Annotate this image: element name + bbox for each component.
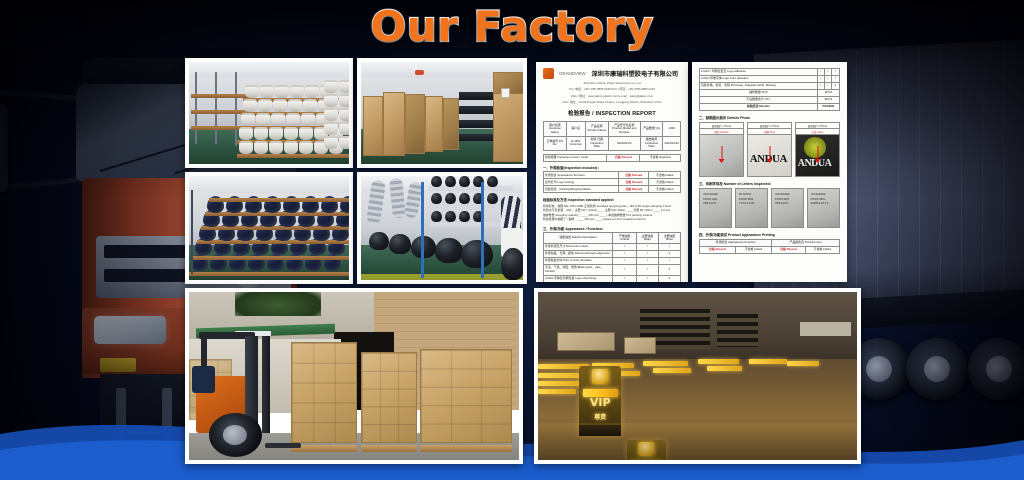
defect-photo-3: 缺陷图片 3 Photo 光泽 Gloss ANDUA [795,122,840,177]
section-2-line-4: 检验批量中抽取了 / 抽样：____ 200 pcs ____ picked o… [543,217,681,222]
section-1-table: 外观检查 Appearance Function 合格 Passed 不合格 F… [543,171,681,193]
table-header-row: 外观检查 Appearance Function 产品颜色及 Product c… [700,239,840,246]
forklift-fork [265,443,301,448]
brand-medal-icon [592,369,609,385]
carton-pallet [420,349,512,443]
letter-card: NO STOCK STOCK 5052 TY NO.2 A NO [735,188,768,228]
table-header-row: 缺陷描述 Defects Description 严重缺陷 Critical 主… [544,233,681,244]
table-row: 抽检数量 PCS 2PCS [700,90,840,97]
forklift-mast-inner [262,336,271,433]
page2-top-table: LOGO / 印刷位置及 Logo adhesion / / / LOGO 印刷… [699,68,840,111]
defect-photo-2: 缺陷图片 2 Photo 印刷 Print ANDUA [747,122,792,177]
section-1-title: 一、外观检查(Inspection included)： [543,165,681,170]
inspection-report-page-2[interactable]: LOGO / 印刷位置及 Logo adhesion / / / LOGO 印刷… [692,62,847,282]
table-row: 客户名称 Customer Name 客户名 产品名称 Product Name… [544,122,681,136]
table-row: 订单编号 PO No. LK-B01 Customer 检验 日期 Inspec… [544,136,681,150]
photo-warehouse-cartons[interactable] [357,58,527,168]
page-title: Our Factory [0,2,1024,51]
photo-shelves-blue-products[interactable] [185,172,353,284]
stacked-crates [557,332,614,350]
photo-content [361,176,523,280]
defect-section-title: 二、缺陷图片展示 Defects Photo [699,115,840,120]
forklift-driver [192,366,215,393]
table-row: LOGO / 印刷位置及 Logo adhesion / / / [700,69,840,76]
section-3-table: 缺陷描述 Defects Description 严重缺陷 Critical 主… [543,232,681,282]
table-row: 检验结果 Inspection result / result 合格 Passe… [544,154,681,161]
company-logo-label: GRANDVIEW [559,71,586,76]
report-title: 检验报告 / INSPECTION REPORT [543,109,681,117]
section-2-title: 检验标准及方法 Inspection standard applied： [543,197,681,202]
table-row: 包装外箱、标签、条码 Print tape, hologram white, M… [700,83,840,90]
table-row: 检验结论 Results PASSED [700,104,840,111]
table-row: 丝印打印 Logo printing 合格 Passed 不合格 Failed [544,179,681,186]
company-name-en: Shenzhen JiaKun Plastic Electronics Co.,… [543,81,681,85]
vip-sign-subtext: 尊贵 [579,412,620,421]
company-logo-icon [543,68,554,79]
table-row: 包装检查、Packing/Shipping Marks 合格 Passed 不合… [544,186,681,193]
defect-image-3: ANDUA [795,135,840,177]
table-row: 外观外观及尺寸 Dimension check / / / [544,244,681,251]
letters-section-title: 三、印刷字体及 Number of Letters Inspected： [699,181,840,186]
table-row: 外观色差、光泽、颜色 Deformed/rough edge/color / /… [544,251,681,258]
photo-content: VIP 尊贵 VIP 尊贵 VIP 尊贵 VIP VIP [538,292,857,460]
table-row: 污渍、气泡、泭痕、划伤 Black spots、glue、Scratch / /… [544,265,681,276]
company-contact-1: Tel / 电话：+86 (755) 8855 0180 FAX / 传真：+8… [543,87,681,91]
inspection-report-page-1[interactable]: GRANDVIEW 深圳市康瑞科塑胶电子有限公司 Shenzhen JiaKun… [536,62,688,282]
photo-content [189,176,349,280]
report-result-row: 检验结果 Inspection result / result 合格 Passe… [543,154,681,162]
photo-content [189,292,519,460]
carton-pallet [291,342,357,443]
letter-card-row: YES PLEASE STOCK CALL 7596 A-D IN NO STO… [699,188,840,228]
photo-production-line[interactable] [357,172,527,284]
table-row: 外观检查 Appearance Function 合格 Passed 不合格 F… [544,172,681,179]
defect-image-2: ANDUA [747,135,792,177]
bottom-table: 外观检查 Appearance Function 产品颜色及 Product c… [699,239,840,254]
carton-pallet [361,352,417,443]
carton-box [624,337,656,354]
table-row: 外观前后方向 Print of color deviation / / / [544,258,681,265]
company-contact-3: Add / 地址：No.66 Pinghu Road, Pinghu, Long… [543,100,681,104]
vip-sign-text: VIP [579,396,620,409]
photo-warehouse-white-products[interactable] [185,58,353,168]
table-row: LOGO 印刷字体 Logo color deviation / / / [700,76,840,83]
photo-content [361,62,523,164]
table-row: 不良数量合计 QTY 2PCS [700,97,840,104]
photo-content [189,62,349,164]
company-contact-2: Web / 网址：www.jiakun-plastic.com E-mail：s… [543,94,681,98]
photo-vip-led-signs[interactable]: VIP 尊贵 VIP 尊贵 VIP 尊贵 VIP VIP [534,288,861,464]
table-row: LOGO 字体及印刷位置 Logo off-printing / / 1 [544,275,681,282]
letter-card: YES PLEASE STOCK CALL 7596 A-D IN [699,188,732,228]
section-3-title: 三、外观/功能 Appearance / Function： [543,226,681,231]
company-name-cn: 深圳市康瑞科塑胶电子有限公司 [589,69,681,78]
forklift-wheel [209,413,262,457]
photo-forklift-loading[interactable] [185,288,523,464]
letter-card: YES PLEASE STOCK 5078 7596 A-D IN [771,188,804,228]
defect-photo-1: 缺陷图片 1 Photo 划伤 Scratch [699,122,744,177]
defect-photo-row: 缺陷图片 1 Photo 划伤 Scratch 缺陷图片 2 Photo 印刷 … [699,122,840,177]
defect-image-1 [699,135,744,177]
report-header-table: 客户名称 Customer Name 客户名 产品名称 Product Name… [543,121,681,151]
bottom-section-title: 四、外观/功能测试 Product Appearance Printing [699,232,840,237]
table-row: 合格 Passed 不合格 Failed 合格 Passed 不合格 Faile… [700,246,840,253]
letter-card: YES PLEASE STOCK 5061 SAMPLE CA 7.0 [807,188,840,228]
